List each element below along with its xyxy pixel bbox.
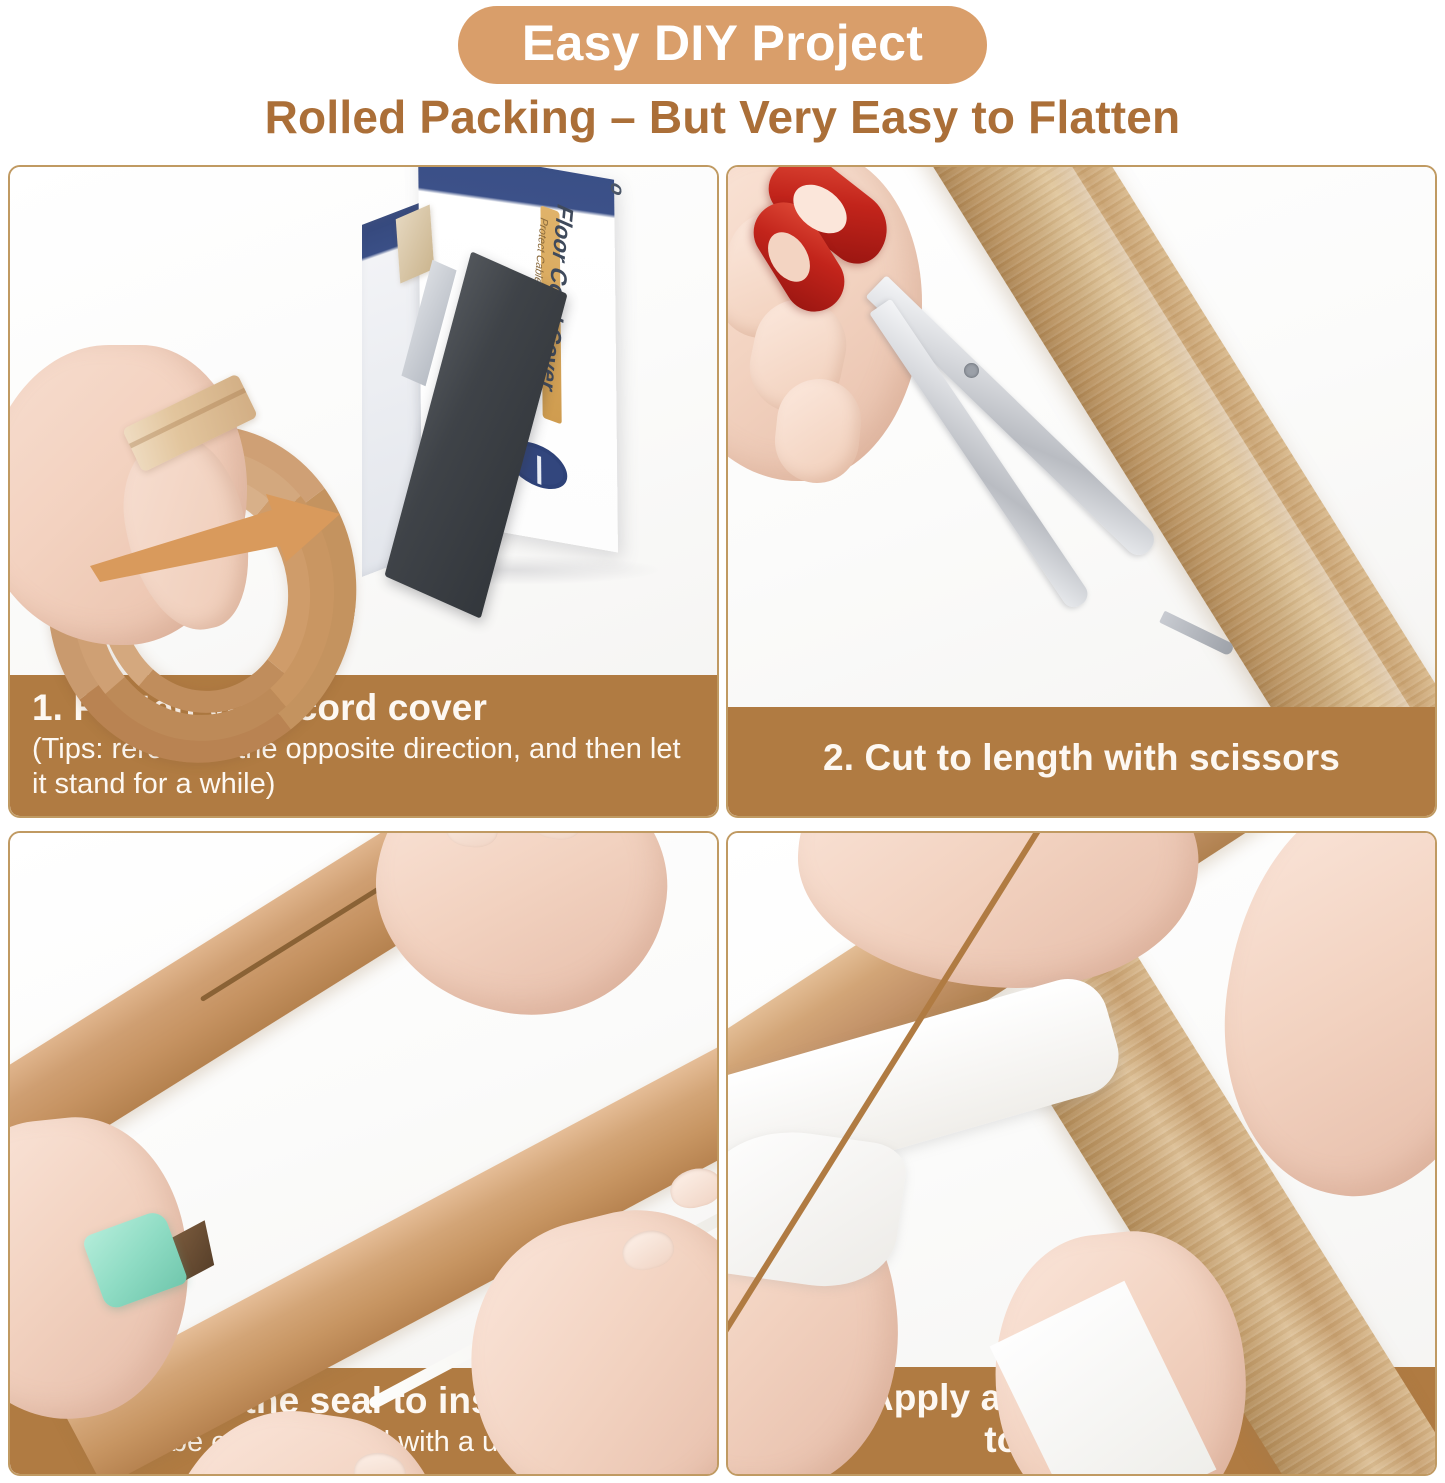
product-box: o Floor Cord Cover Protect Cables & Prev… [362,167,674,579]
step-panel-2: 2. Cut to length with scissors [726,165,1437,818]
scissor-pivot-screw [964,363,979,378]
infographic-header: Easy DIY Project Rolled Packing – But Ve… [0,0,1445,141]
hand-top-right [353,833,689,1040]
box-brand-text: o [604,178,628,200]
step-panel-1: o Floor Cord Cover Protect Cables & Prev… [8,165,719,818]
arrow-up-right-icon [90,492,340,582]
step-2-caption: 2. Cut to length with scissors [728,707,1435,816]
page-subtitle: Rolled Packing – But Very Easy to Flatte… [0,93,1445,141]
step-panel-3: 3. Open the seal to insert cord (Can be … [8,831,719,1476]
steps-grid: o Floor Cord Cover Protect Cables & Prev… [8,165,1437,1476]
step-4-photo [728,833,1435,1474]
step-2-title: 2. Cut to length with scissors [750,737,1413,780]
page-title-badge: Easy DIY Project [458,6,987,84]
step-panel-4: 4. Apply adhesive and attach to the floo… [726,831,1437,1476]
